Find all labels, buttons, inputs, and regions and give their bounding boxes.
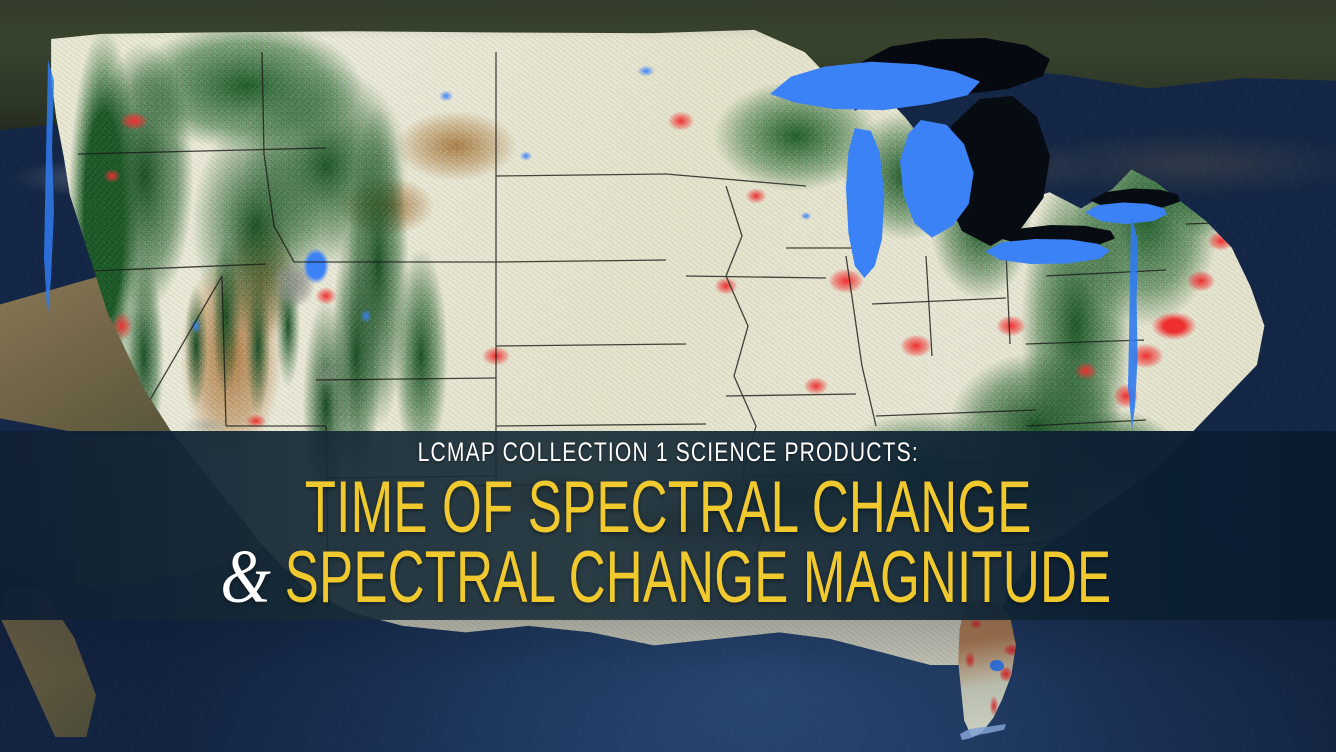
lake-okeechobee: [990, 660, 1004, 671]
title-banner: LCMAP COLLECTION 1 SCIENCE PRODUCTS: TIM…: [0, 431, 1336, 620]
banner-title-line-1: TIME OF SPECTRAL CHANGE: [305, 474, 1032, 542]
banner-title-line-2-row: & SPECTRAL CHANGE MAGNITUDE: [225, 542, 1111, 613]
lcmap-title-slide: LCMAP COLLECTION 1 SCIENCE PRODUCTS: TIM…: [0, 0, 1336, 752]
banner-title-line-2: SPECTRAL CHANGE MAGNITUDE: [285, 544, 1112, 612]
florida-peninsula: [946, 602, 1022, 737]
banner-eyebrow: LCMAP COLLECTION 1 SCIENCE PRODUCTS:: [417, 439, 918, 466]
ampersand-glyph: &: [220, 542, 271, 613]
florida-urban-areas: [946, 602, 1022, 737]
lake-michigan: [846, 128, 886, 278]
